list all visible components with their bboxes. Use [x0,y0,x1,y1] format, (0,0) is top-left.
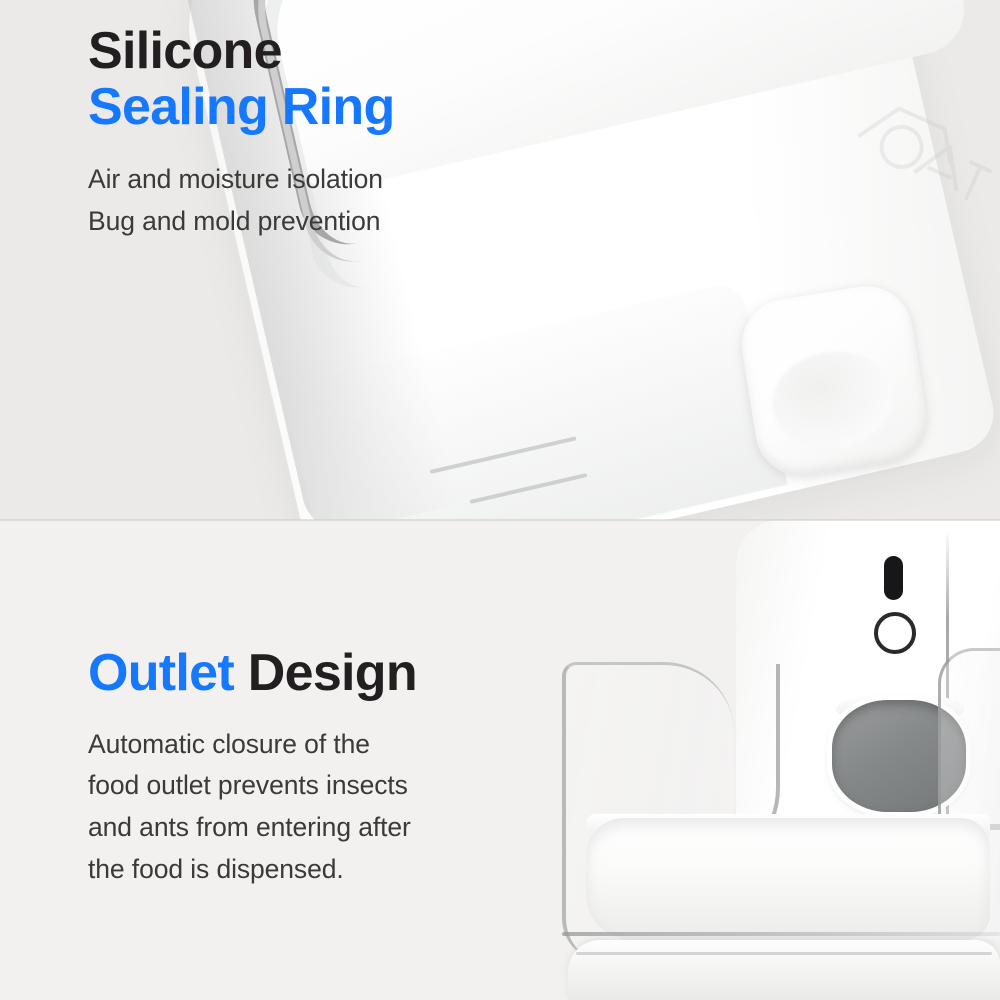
copy-block-sealing-ring: Silicone Sealing Ring Air and moisture i… [88,24,395,243]
product-feature-page: Silicone Sealing Ring Air and moisture i… [0,0,1000,1000]
subcopy-line-4: the food is dispensed. [88,849,417,891]
food-tray [586,818,990,940]
subcopy-sealing-ring: Air and moisture isolation Bug and mold … [88,159,395,243]
subcopy-line-2: Bug and mold prevention [88,201,395,243]
page-title-sealing-ring: Silicone Sealing Ring [88,24,395,135]
subcopy-line-3: and ants from entering after [88,807,417,849]
headline-word-2: Design [248,644,417,702]
headline-word-1: Outlet [88,644,234,702]
power-button[interactable] [874,612,916,654]
section-outlet-design: Outlet Design Automatic closure of the f… [0,520,1000,1000]
section-silicone-sealing-ring: Silicone Sealing Ring Air and moisture i… [0,0,1000,520]
headline-line-2: Sealing Ring [88,78,395,136]
headline-line-1: Silicone [88,22,282,80]
base-plate-line [576,952,992,955]
copy-block-outlet-design: Outlet Design Automatic closure of the f… [88,646,417,891]
subcopy-line-1: Air and moisture isolation [88,159,395,201]
subcopy-line-1: Automatic closure of the [88,724,417,766]
bowl-guard-bottom-edge [562,932,1000,936]
panel-divider [0,519,1000,521]
subcopy-line-2: food outlet prevents insects [88,765,417,807]
subcopy-outlet-design: Automatic closure of the food outlet pre… [88,724,417,891]
base-plate [568,940,1000,1000]
led-indicator [884,556,903,600]
page-title-outlet-design: Outlet Design [88,646,417,702]
